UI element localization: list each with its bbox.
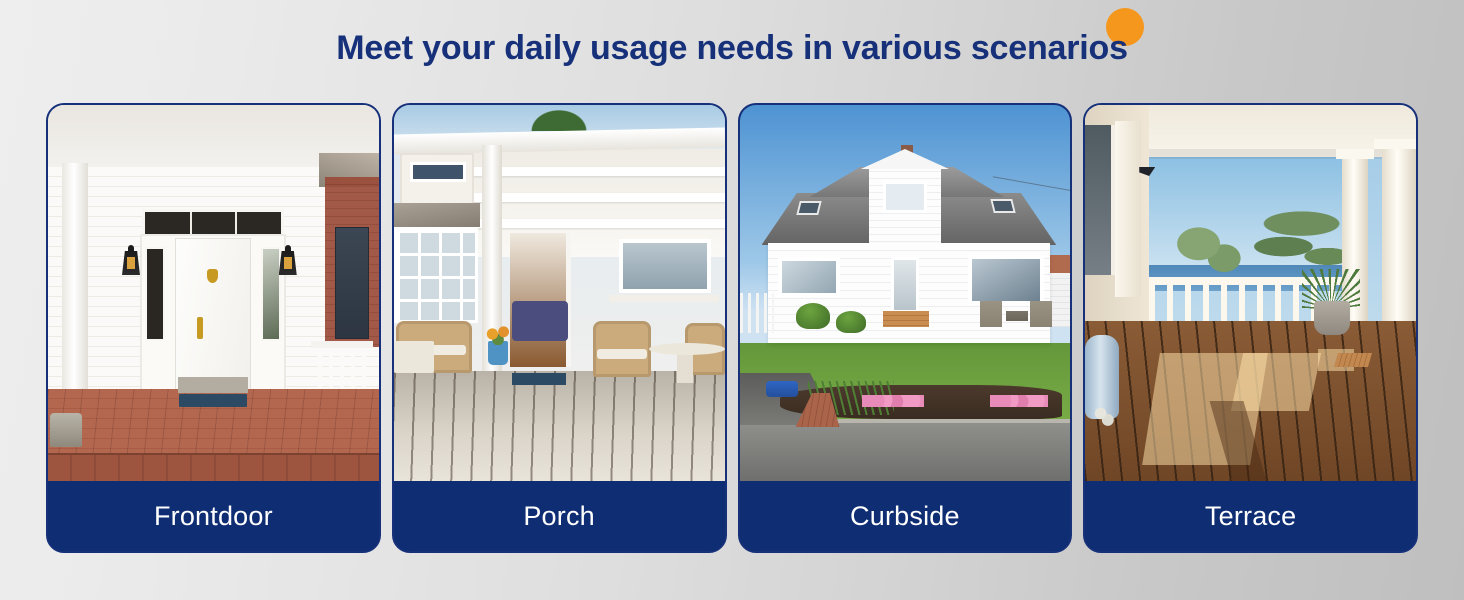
header-banner: Meet your daily usage needs in various s… bbox=[0, 0, 1464, 95]
curbside-photo bbox=[740, 105, 1071, 481]
card-label-bar-curbside: Curbside bbox=[740, 481, 1071, 551]
card-label-text: Terrace bbox=[1205, 501, 1296, 532]
card-label-bar-porch: Porch bbox=[394, 481, 725, 551]
card-label-text: Curbside bbox=[850, 501, 960, 532]
scenario-card-frontdoor[interactable]: Frontdoor bbox=[46, 103, 381, 553]
terrace-photo bbox=[1085, 105, 1416, 481]
scenario-card-curbside[interactable]: Curbside bbox=[738, 103, 1073, 553]
scenario-card-porch[interactable]: Porch bbox=[392, 103, 727, 553]
card-label-bar-terrace: Terrace bbox=[1085, 481, 1416, 551]
title-group: Meet your daily usage needs in various s… bbox=[336, 31, 1128, 65]
frontdoor-photo bbox=[48, 105, 379, 481]
card-label-text: Porch bbox=[523, 501, 595, 532]
scenario-card-row: Frontdoor bbox=[46, 103, 1418, 553]
wall-lantern-icon bbox=[279, 245, 297, 283]
wall-lantern-icon bbox=[122, 245, 140, 283]
page-title: Meet your daily usage needs in various s… bbox=[336, 31, 1128, 65]
scenario-card-terrace[interactable]: Terrace bbox=[1083, 103, 1418, 553]
card-label-text: Frontdoor bbox=[154, 501, 273, 532]
card-label-bar-frontdoor: Frontdoor bbox=[48, 481, 379, 551]
porch-photo bbox=[394, 105, 725, 481]
